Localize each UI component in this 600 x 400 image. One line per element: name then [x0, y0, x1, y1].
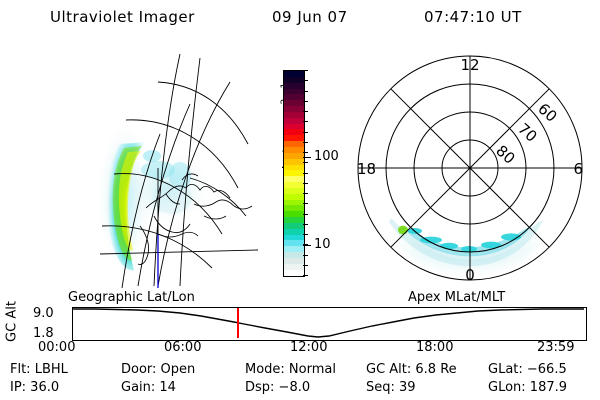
status-glon: GLon: 187.9	[488, 380, 567, 395]
mlt-label-12: 12	[460, 56, 479, 74]
strip-chart-xaxis: 00:00 06:00 12:00 18:00 23:59	[0, 340, 600, 356]
strip-xtick-3: 18:00	[416, 340, 453, 355]
status-gc-alt: GC Alt: 6.8 Re	[366, 362, 457, 377]
colorbar-minor-tick	[303, 265, 308, 266]
status-glat: GLat: −66.5	[488, 362, 567, 377]
colorbar-minor-tick	[303, 193, 308, 194]
colorbar-label-10: 10	[314, 240, 331, 250]
colorbar-minor-tick	[303, 91, 308, 92]
colorbar-minor-tick	[303, 224, 308, 225]
strip-xtick-4: 23:59	[537, 340, 574, 355]
status-mode: Mode: Normal	[245, 362, 336, 377]
strip-chart-plot-area[interactable]	[72, 307, 587, 341]
status-bar: Flt: LBHL Door: Open Mode: Normal GC Alt…	[0, 362, 600, 398]
status-ip: IP: 36.0	[10, 380, 59, 395]
mlat-label-70: 70	[514, 120, 540, 146]
colorbar-minor-tick	[303, 255, 308, 256]
colorbar-minor-tick	[303, 132, 308, 133]
page-title: Ultraviolet Imager	[50, 8, 195, 26]
colorbar-minor-tick	[303, 162, 308, 163]
strip-ytick-top: 9.0	[33, 308, 54, 319]
status-flight-mode: Flt: LBHL	[10, 362, 68, 377]
mlt-spokes	[358, 56, 582, 280]
colorbar-minor-tick	[303, 152, 308, 153]
mlat-label-60: 60	[534, 100, 560, 126]
colorbar-minor-tick	[303, 214, 308, 215]
mlat-label-80: 80	[492, 142, 518, 168]
aurora-hot-spot	[398, 226, 408, 235]
colorbar-major-tick	[303, 157, 311, 158]
status-gain: Gain: 14	[121, 380, 176, 395]
altitude-trace	[73, 308, 584, 338]
colorbar-minor-tick	[303, 121, 308, 122]
colorbar-minor-tick	[303, 111, 308, 112]
mlt-label-6: 6	[573, 160, 583, 178]
observation-date: 09 Jun 07	[272, 8, 348, 26]
strip-xtick-2: 12:00	[290, 340, 327, 355]
geographic-image-panel[interactable]	[62, 48, 262, 288]
observation-time: 07:47:10 UT	[424, 8, 522, 26]
colorbar-minor-tick	[303, 183, 308, 184]
strip-ytick-bottom: 1.8	[33, 328, 54, 339]
mlt-label-0: 0	[465, 266, 475, 284]
status-door: Door: Open	[121, 362, 195, 377]
mlt-label-18: 18	[357, 160, 376, 178]
apex-polar-panel[interactable]: 12 18 6 0 60 70 80	[345, 48, 595, 288]
colorbar-minor-tick	[303, 275, 308, 276]
strip-xtick-0: 00:00	[38, 340, 75, 355]
colorbar-minor-tick	[303, 101, 308, 102]
intensity-colorbar: photon cm-2s-1 10010	[265, 60, 343, 285]
colorbar-cell-34	[284, 270, 304, 276]
colorbar-label-100: 100	[314, 152, 339, 162]
colorbar-minor-tick	[303, 173, 308, 174]
colorbar-ticks: 10010	[303, 70, 343, 275]
geographic-projection	[62, 48, 262, 288]
colorbar-major-tick	[303, 245, 311, 246]
colorbar-minor-tick	[303, 203, 308, 204]
apex-polar-dial: 12 18 6 0 60 70 80	[345, 48, 595, 288]
current-time-marker[interactable]	[237, 308, 239, 338]
colorbar-minor-tick	[303, 80, 308, 81]
colorbar-gradient	[283, 70, 305, 277]
orbit-altitude-strip-chart[interactable]: GC Alt 9.0 1.8 00:00 06:00 12:00 18:00 2…	[0, 302, 600, 358]
header-bar: Ultraviolet Imager 09 Jun 07 07:47:10 UT	[0, 6, 600, 32]
strip-xtick-1: 06:00	[164, 340, 201, 355]
status-seq: Seq: 39	[366, 380, 416, 395]
colorbar-minor-tick	[303, 234, 308, 235]
colorbar-minor-tick	[303, 142, 308, 143]
colorbar-minor-tick	[303, 70, 308, 71]
status-dsp: Dsp: −8.0	[245, 380, 310, 395]
